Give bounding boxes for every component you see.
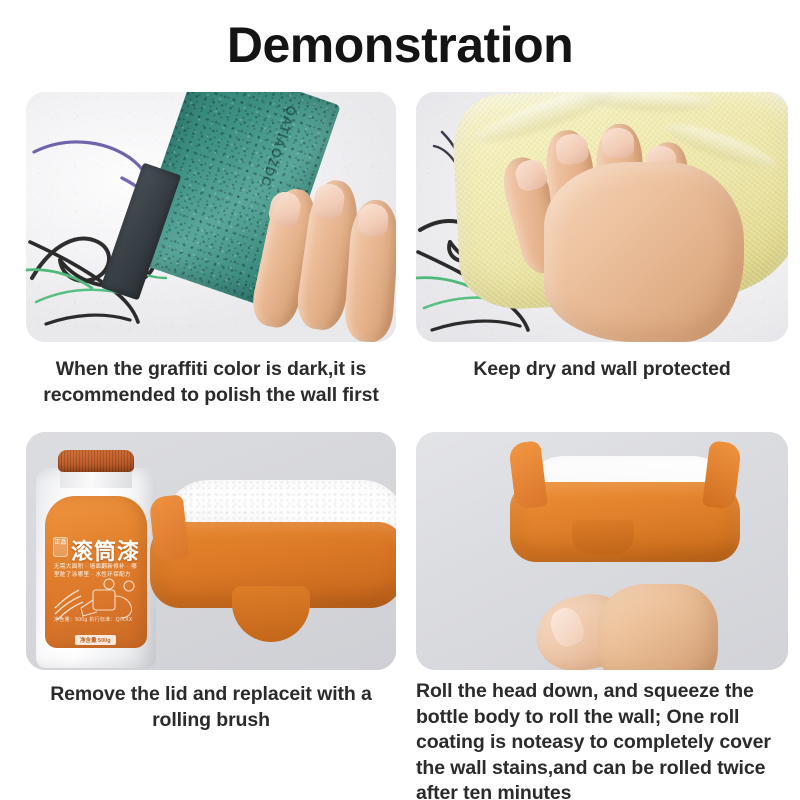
steps-grid: QATIAOZDC When the graffiti color is dar… xyxy=(0,92,800,800)
photo-wiping-cloth xyxy=(416,92,788,342)
paint-bottle: 正品 滚筒漆 无需大面积 · 墙面翻新修补 · 哪里脏了涂哪里 · 水性环保配方 xyxy=(36,450,156,668)
roller-stem xyxy=(572,520,634,554)
step-card-1: QATIAOZDC When the graffiti color is dar… xyxy=(26,92,396,408)
photo-sanding-graffiti-wall: QATIAOZDC xyxy=(26,92,396,342)
step-caption: Keep dry and wall protected xyxy=(416,356,788,382)
product-label: 正品 滚筒漆 无需大面积 · 墙面翻新修补 · 哪里脏了涂哪里 · 水性环保配方 xyxy=(45,496,147,648)
label-footer: 净含量：500g 执行标准：Q/XXX xyxy=(54,616,140,623)
fingernail xyxy=(602,128,635,159)
fingernail xyxy=(554,132,589,166)
step-caption: Remove the lid and replaceit with a roll… xyxy=(26,681,396,733)
label-net-weight: 净含量 500g xyxy=(75,635,116,645)
step-caption: Roll the head down, and squeeze the bott… xyxy=(416,679,788,800)
roller-arm-left xyxy=(149,494,190,561)
fingernail xyxy=(357,203,389,237)
photo-bottle-and-roller: 正品 滚筒漆 无需大面积 · 墙面翻新修补 · 哪里脏了涂哪里 · 水性环保配方 xyxy=(26,432,396,670)
step-card-4: Roll the head down, and squeeze the bott… xyxy=(416,432,788,800)
step-card-2: Keep dry and wall protected xyxy=(416,92,788,382)
step-card-3: 正品 滚筒漆 无需大面积 · 墙面翻新修补 · 哪里脏了涂哪里 · 水性环保配方 xyxy=(26,432,396,733)
hand xyxy=(536,582,716,670)
step-caption: When the graffiti color is dark,it is re… xyxy=(26,356,396,408)
page-title: Demonstration xyxy=(0,14,800,76)
roller-stem xyxy=(232,586,310,642)
roller-brush xyxy=(510,456,740,586)
bottle-cap xyxy=(58,450,134,472)
photo-rolling-the-wall xyxy=(416,432,788,670)
hand xyxy=(504,120,754,342)
palm xyxy=(544,162,744,342)
roller-brush xyxy=(150,480,396,670)
hand xyxy=(258,178,396,342)
palm xyxy=(598,584,718,670)
label-badge: 正品 xyxy=(53,537,68,557)
demonstration-page: Demonstration xyxy=(0,0,800,800)
